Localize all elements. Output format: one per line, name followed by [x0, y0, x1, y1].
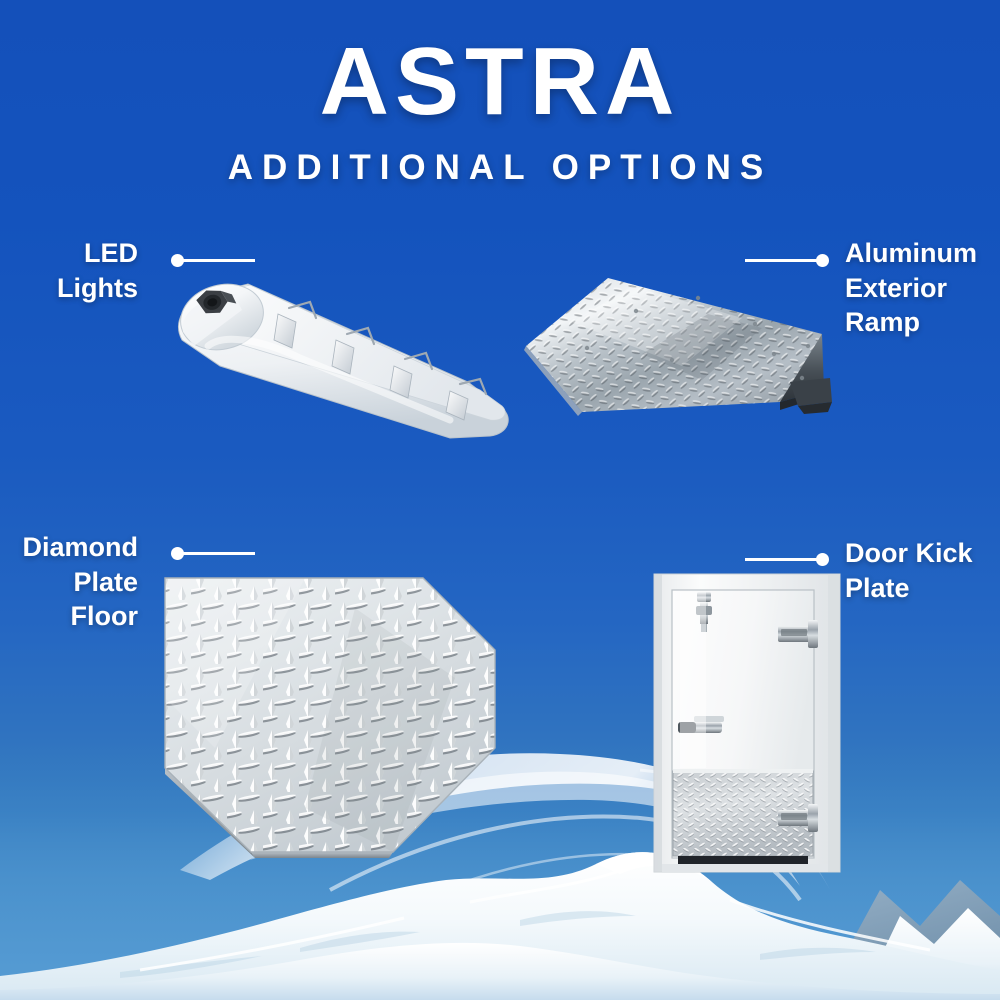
- connector-line: [183, 552, 255, 555]
- poster-heading: ASTRA ADDITIONAL OPTIONS: [0, 34, 1000, 185]
- product-image-door-kick-plate: [650, 568, 850, 878]
- connector-led-lights: [171, 253, 255, 267]
- poster: ASTRA ADDITIONAL OPTIONS LED Lights: [0, 0, 1000, 1000]
- callout-label-led-lights: LED Lights: [0, 236, 138, 305]
- callout-label-door-kick-plate: Door Kick Plate: [845, 536, 1000, 605]
- callout-label-aluminum-exterior-ramp: Aluminum Exterior Ramp: [845, 236, 995, 340]
- product-image-led-lights: [150, 262, 530, 452]
- connector-line: [745, 558, 817, 561]
- connector-aluminum-exterior-ramp: [745, 253, 829, 267]
- connector-dot-icon: [816, 254, 829, 267]
- callout-label-diamond-plate-floor: Diamond Plate Floor: [0, 530, 138, 634]
- page-subtitle: ADDITIONAL OPTIONS: [0, 150, 1000, 185]
- connector-line: [745, 259, 817, 262]
- page-title: ASTRA: [0, 34, 1000, 130]
- connector-line: [183, 259, 255, 262]
- connector-dot-icon: [816, 553, 829, 566]
- connector-door-kick-plate: [745, 552, 829, 566]
- connector-diamond-plate-floor: [171, 546, 255, 560]
- product-image-diamond-plate-floor: [155, 568, 505, 863]
- product-image-aluminum-exterior-ramp: [512, 262, 842, 427]
